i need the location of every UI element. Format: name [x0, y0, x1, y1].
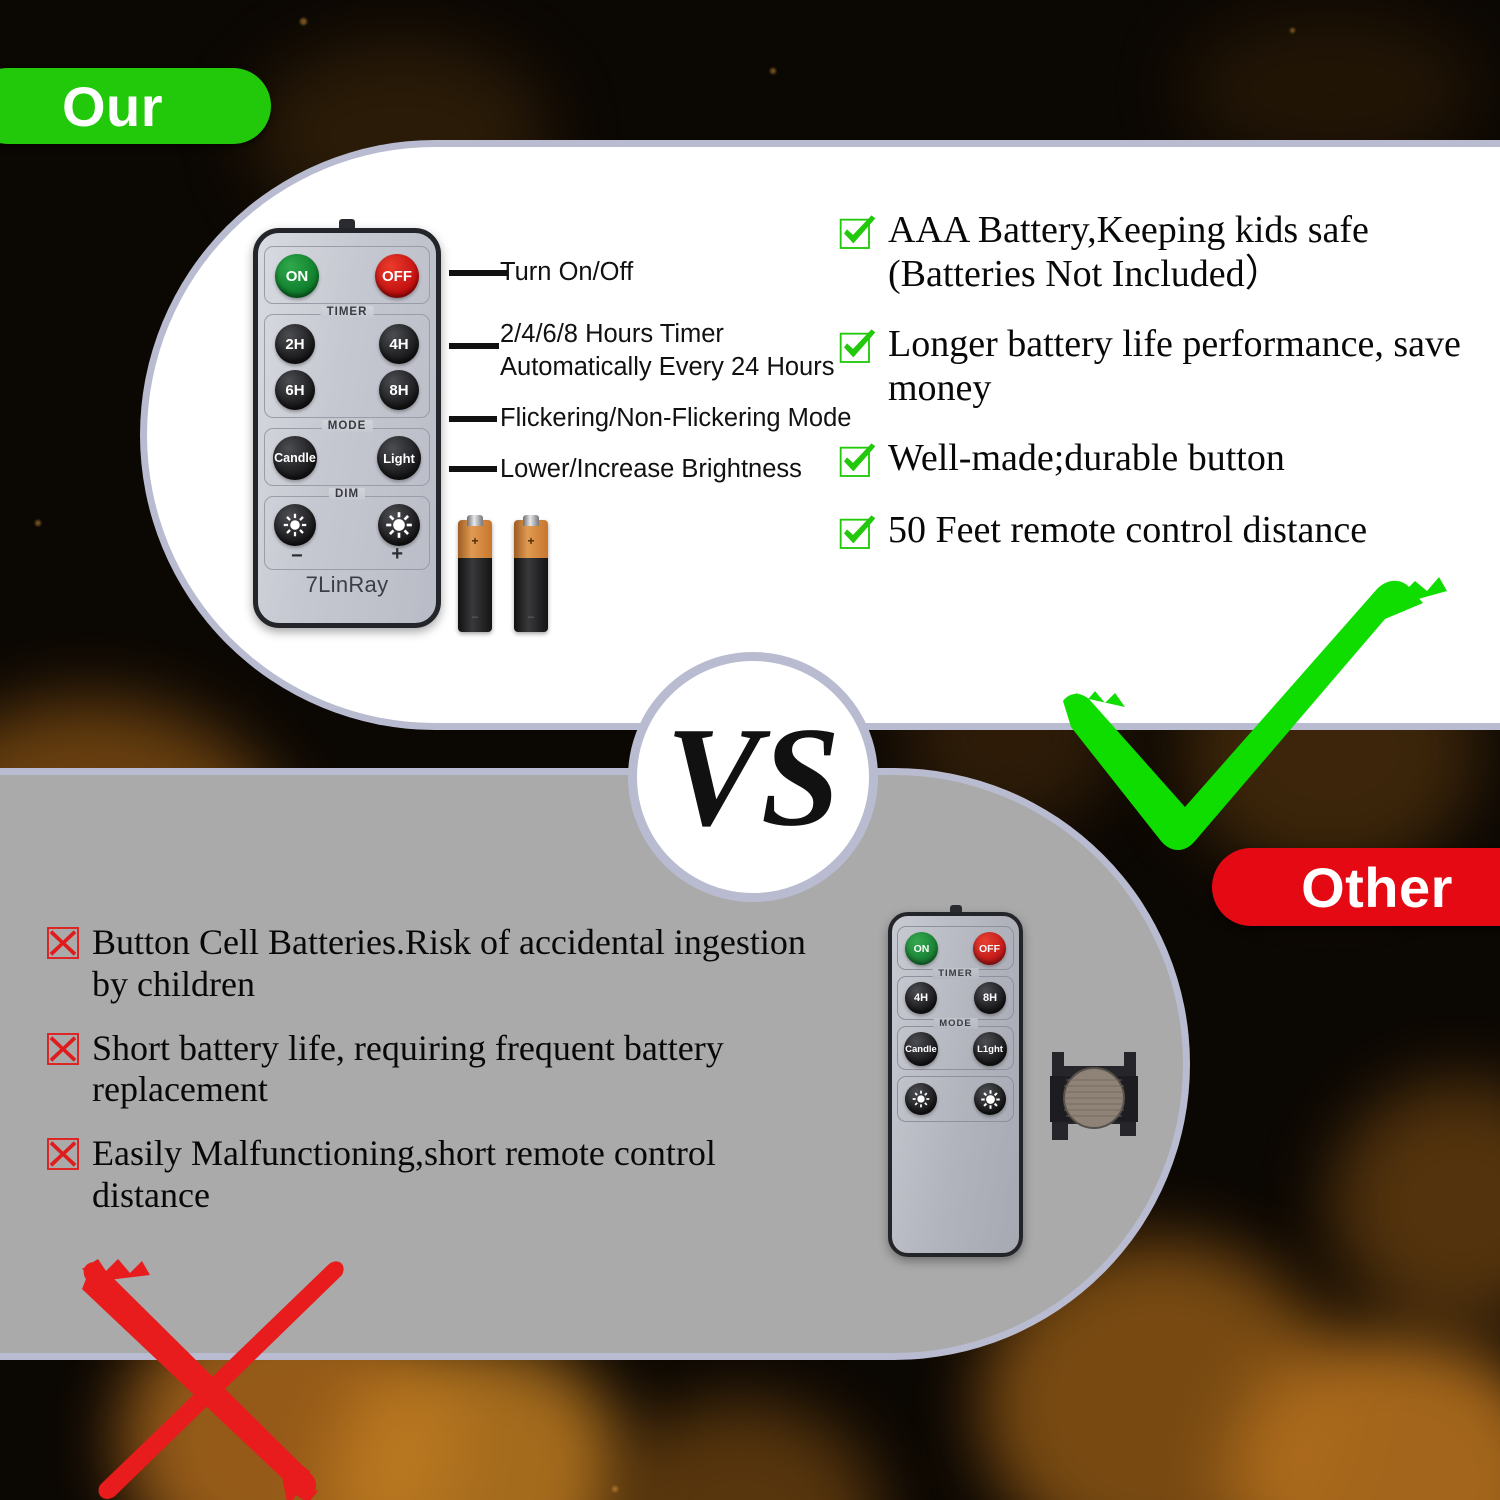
timer-6h-button[interactable]: 6H	[275, 370, 315, 410]
battery-plus-label: +	[458, 534, 492, 548]
timer-4h-button[interactable]: 4H	[379, 324, 419, 364]
off-button[interactable]: OFF	[973, 932, 1006, 965]
red-cross-brush-icon	[60, 1245, 360, 1500]
cons-item-text: Easily Malfunctioning,short remote contr…	[92, 1133, 806, 1217]
mode-button-group: MODE Candle Light	[264, 428, 430, 486]
dim-button-group: DIM	[264, 496, 430, 570]
cons-item: Easily Malfunctioning,short remote contr…	[46, 1133, 806, 1217]
timer-2h-button[interactable]: 2H	[275, 324, 315, 364]
our-remote-control: ON OFF TIMER 2H 4H 6H 8H MODE Candle Lig…	[253, 228, 441, 628]
dim-group-label: DIM	[329, 488, 365, 500]
dim-up-button[interactable]	[974, 1083, 1006, 1115]
green-check-brush-icon	[1055, 575, 1455, 865]
annotation-power: Turn On/Off	[500, 256, 633, 289]
timer-button-group: TIMER 4H 8H	[897, 976, 1014, 1020]
red-cross-box-icon	[46, 1137, 80, 1171]
pros-item: AAA Battery,Keeping kids safe (Batteries…	[838, 208, 1498, 296]
timer-group-label: TIMER	[932, 968, 979, 979]
pros-item-text: 50 Feet remote control distance	[888, 508, 1367, 552]
sun-brightness-icon	[385, 511, 413, 539]
mode-light-button[interactable]: Light	[377, 436, 421, 480]
mode-light-button[interactable]: L1ght	[973, 1032, 1007, 1066]
sun-brightness-icon	[911, 1089, 931, 1109]
cons-item: Short battery life, requiring frequent b…	[46, 1028, 806, 1112]
leader-line	[449, 343, 499, 349]
on-button[interactable]: ON	[905, 932, 938, 965]
sun-brightness-icon	[980, 1089, 1001, 1110]
our-badge: Our	[0, 68, 271, 144]
cons-item: Button Cell Batteries.Risk of accidental…	[46, 922, 806, 1006]
off-button[interactable]: OFF	[375, 254, 419, 298]
timer-8h-button[interactable]: 8H	[974, 982, 1006, 1014]
dim-plus-label: +	[391, 543, 403, 566]
timer-8h-button[interactable]: 8H	[379, 370, 419, 410]
power-button-group: ON OFF	[897, 926, 1014, 970]
red-cross-box-icon	[46, 926, 80, 960]
mode-candle-button[interactable]: Candle	[904, 1032, 938, 1066]
pros-item: 50 Feet remote control distance	[838, 508, 1498, 554]
red-cross-box-icon	[46, 1032, 80, 1066]
green-check-box-icon	[838, 442, 878, 482]
mode-candle-button[interactable]: Candle	[273, 436, 317, 480]
green-check-box-icon	[838, 328, 878, 368]
aaa-battery-pair: + – + –	[458, 512, 562, 636]
dim-up-button[interactable]	[378, 504, 420, 546]
annotation-dim: Lower/Increase Brightness	[500, 453, 802, 486]
leader-line	[449, 416, 497, 422]
remote-brand-label: 7LinRay	[253, 572, 441, 598]
annotation-timer: 2/4/6/8 Hours Timer Automatically Every …	[500, 318, 834, 383]
leader-line	[449, 466, 497, 472]
cons-item-text: Short battery life, requiring frequent b…	[92, 1028, 806, 1112]
green-check-box-icon	[838, 214, 878, 254]
mode-group-label: MODE	[322, 420, 373, 432]
timer-button-group: TIMER 2H 4H 6H 8H	[264, 314, 430, 418]
pros-item-text: Well-made;durable button	[888, 436, 1285, 480]
on-button[interactable]: ON	[275, 254, 319, 298]
battery-plus-label: +	[514, 534, 548, 548]
dim-button-group	[897, 1076, 1014, 1122]
mode-button-group: MODE Candle L1ght	[897, 1026, 1014, 1070]
sun-brightness-icon	[282, 512, 308, 538]
aaa-battery: + –	[458, 520, 492, 632]
other-remote-control: ON OFF TIMER 4H 8H MODE Candle L1ght	[888, 912, 1023, 1257]
green-check-box-icon	[838, 514, 878, 554]
pros-item: Longer battery life performance, save mo…	[838, 322, 1498, 410]
timer-4h-button[interactable]: 4H	[905, 982, 937, 1014]
aaa-battery: + –	[514, 520, 548, 632]
cons-item-text: Button Cell Batteries.Risk of accidental…	[92, 922, 806, 1006]
battery-minus-label: –	[514, 611, 548, 623]
leader-line	[449, 270, 507, 276]
vs-badge: VS	[628, 652, 878, 902]
mode-group-label: MODE	[933, 1018, 978, 1029]
vs-logo-text: VS	[666, 698, 840, 856]
vs-logo-icon: VS	[658, 682, 848, 872]
timer-group-label: TIMER	[321, 306, 374, 318]
pros-item-text: Longer battery life performance, save mo…	[888, 322, 1498, 410]
dim-down-button[interactable]	[274, 504, 316, 546]
dim-minus-label: −	[291, 545, 303, 568]
ir-emitter-nub	[339, 219, 355, 228]
ir-emitter-nub	[950, 905, 962, 912]
battery-minus-label: –	[458, 611, 492, 623]
pros-list: AAA Battery,Keeping kids safe (Batteries…	[838, 208, 1498, 580]
annotation-mode: Flickering/Non-Flickering Mode	[500, 402, 851, 435]
dim-down-button[interactable]	[905, 1083, 937, 1115]
cons-list: Button Cell Batteries.Risk of accidental…	[46, 922, 806, 1239]
pros-item-text: AAA Battery,Keeping kids safe (Batteries…	[888, 208, 1498, 296]
button-cell-battery-icon	[1046, 1046, 1142, 1156]
power-button-group: ON OFF	[264, 246, 430, 304]
infographic-canvas: ON OFF TIMER 2H 4H 6H 8H MODE Candle Lig…	[0, 0, 1500, 1500]
pros-item: Well-made;durable button	[838, 436, 1498, 482]
